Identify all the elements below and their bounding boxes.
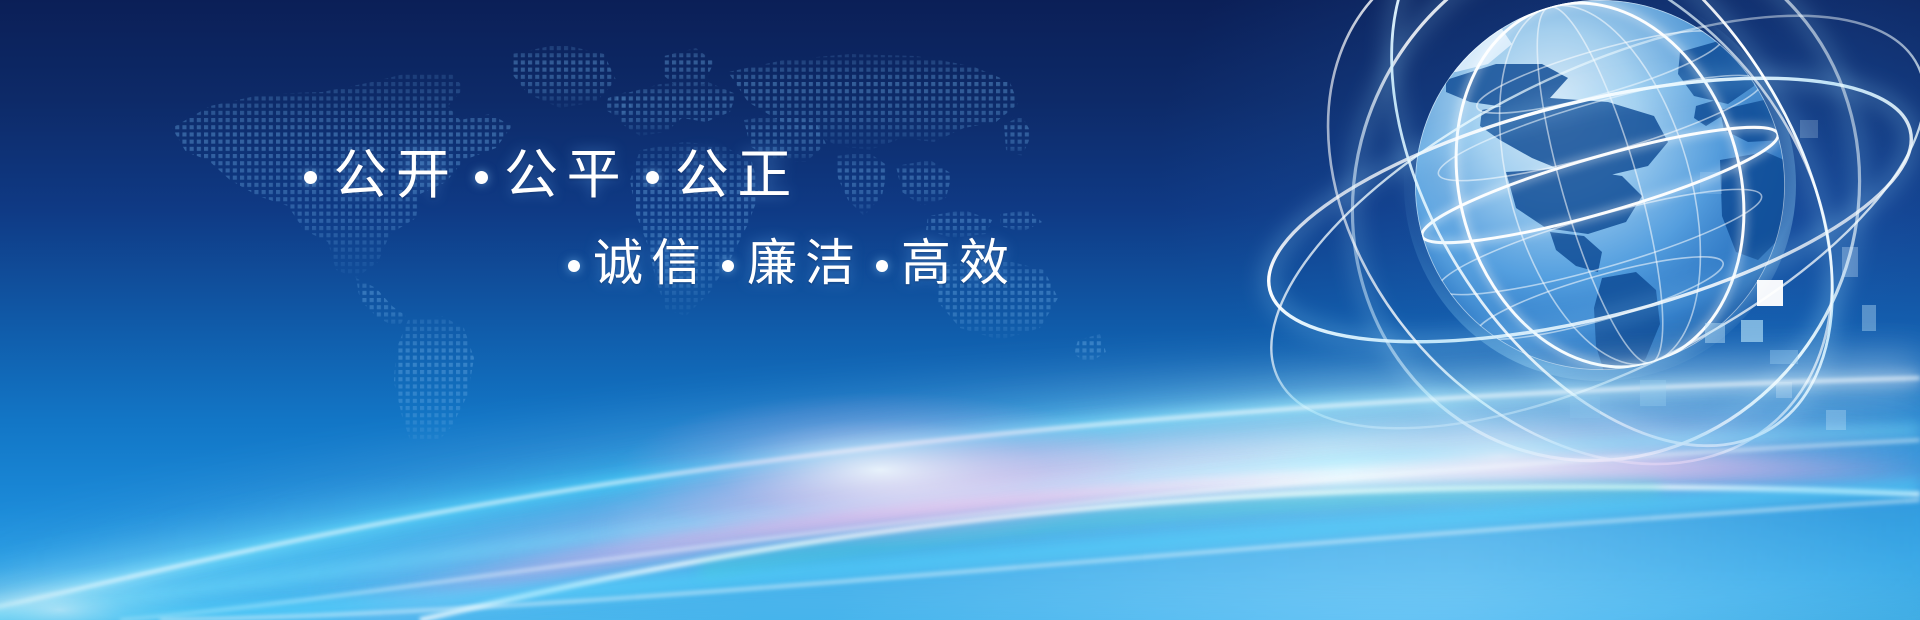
slogan-line-2: 诚信廉洁高效 bbox=[555, 238, 1017, 288]
wireframe-globe bbox=[1250, 0, 1920, 520]
bullet-dot-icon bbox=[646, 171, 659, 184]
dotted-world-map bbox=[60, 10, 1140, 440]
bullet-dot-icon bbox=[722, 260, 734, 272]
slogan-word-chengxin: 诚信 bbox=[593, 235, 709, 291]
slogan-line-1: 公开公平公正 bbox=[288, 148, 800, 202]
banner-root: 公开公平公正 诚信廉洁高效 bbox=[0, 0, 1920, 620]
slogan-word-gaoxiao: 高效 bbox=[901, 235, 1017, 291]
bullet-dot-icon bbox=[475, 171, 488, 184]
slogan-word-gongkai: 公开 bbox=[333, 145, 458, 205]
bullet-dot-icon bbox=[876, 260, 888, 272]
slogan-word-lianjie: 廉洁 bbox=[747, 235, 863, 291]
bullet-dot-icon bbox=[304, 171, 317, 184]
bullet-dot-icon bbox=[568, 260, 580, 272]
slogan-word-gongzheng: 公正 bbox=[675, 145, 800, 205]
slogan-word-gongping: 公平 bbox=[504, 145, 629, 205]
